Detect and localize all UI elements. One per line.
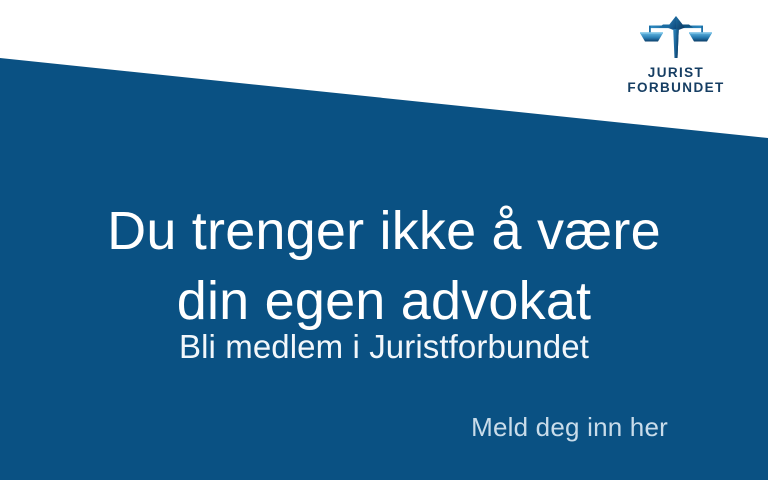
advertisement-banner[interactable]: JURIST FORBUNDET Du trenger ikke å være … [0, 0, 768, 480]
logo-wordmark-line-2: FORBUNDET [620, 80, 732, 95]
cta-link-meld-deg-inn[interactable]: Meld deg inn her [471, 411, 668, 443]
scales-of-justice-icon [637, 14, 715, 60]
headline-line-2: din egen advokat [0, 266, 768, 336]
headline: Du trenger ikke å være din egen advokat [0, 196, 768, 336]
subheadline: Bli medlem i Juristforbundet [0, 327, 768, 367]
logo-wordmark: JURIST FORBUNDET [620, 65, 732, 95]
headline-line-1: Du trenger ikke å være [0, 196, 768, 266]
juristforbundet-logo[interactable]: JURIST FORBUNDET [620, 14, 732, 95]
logo-wordmark-line-1: JURIST [620, 65, 732, 80]
